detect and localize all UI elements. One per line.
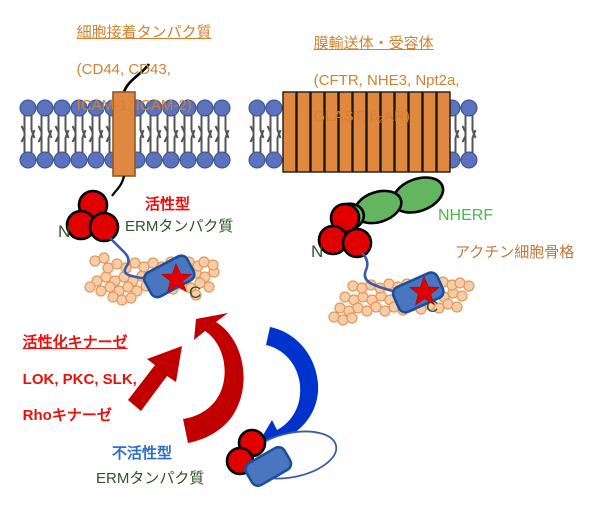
inactive-erm-protein-label: ERMタンパク質 xyxy=(96,470,204,488)
kinase-heading: 活性化キナーゼ xyxy=(23,334,128,351)
actin-cytoskeleton-label: アクチン細胞骨格 xyxy=(455,244,574,262)
kinase-line1: LOK, PKC, SLK, xyxy=(23,371,137,388)
kinase-label: 活性化キナーゼ LOK, PKC, SLK, Rhoキナーゼ xyxy=(6,316,137,444)
erm-inactive xyxy=(227,424,341,488)
adhesion-protein-line2: ICAM-1, ICAM-2) xyxy=(77,97,192,114)
transporter-receptor-heading: 膜輸送体・受容体 xyxy=(314,35,434,52)
activation-cycle-arrow-red xyxy=(183,313,244,443)
n-terminus-label-right: N xyxy=(311,242,323,263)
c-terminus-label-left: C xyxy=(189,283,201,304)
transporter-receptor-label: 膜輸送体・受容体 (CFTR, NHE3, Npt2a, GLAST, β₂AR… xyxy=(297,17,460,145)
active-erm-protein-label: ERMタンパク質 xyxy=(125,218,233,236)
adhesion-protein-label: 細胞接着タンパク質 (CD44, CD43, ICAM-1, ICAM-2) xyxy=(60,6,212,134)
c-terminus-label-right: C xyxy=(426,297,438,318)
diagram-canvas: 細胞接着タンパク質 (CD44, CD43, ICAM-1, ICAM-2) 膜… xyxy=(0,0,600,508)
inactive-state-label: 不活性型 xyxy=(112,445,172,463)
adhesion-protein-heading: 細胞接着タンパク質 xyxy=(77,24,212,41)
active-state-label: 活性型 xyxy=(145,196,190,214)
n-terminus-label-left: N xyxy=(58,222,70,243)
adhesion-protein-line1: (CD44, CD43, xyxy=(77,61,171,78)
nherf-label: NHERF xyxy=(438,206,493,226)
ferm-domain-left xyxy=(67,191,118,241)
kinase-line2: Rhoキナーゼ xyxy=(23,407,112,424)
transporter-receptor-line2: GLAST, β₂AR) xyxy=(314,108,410,125)
transporter-receptor-line1: (CFTR, NHE3, Npt2a, xyxy=(314,72,460,89)
